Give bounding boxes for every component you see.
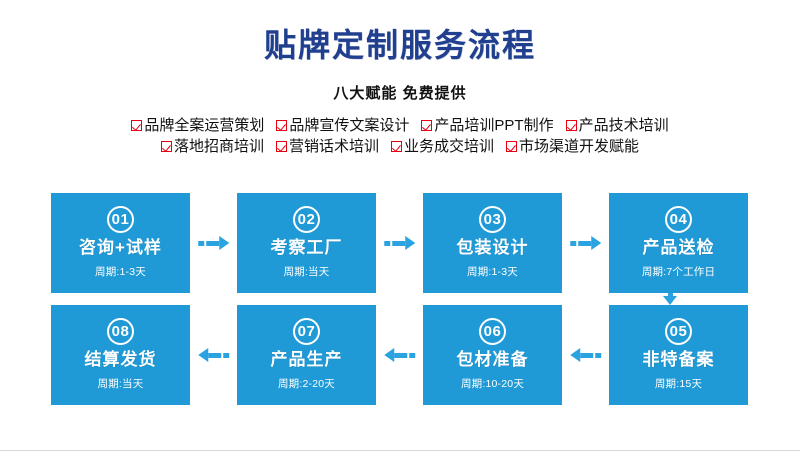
step-card-06[interactable]: 06 包材准备 周期:10-20天 bbox=[423, 305, 562, 405]
step-number-badge: 04 bbox=[665, 206, 692, 233]
page-subtitle: 八大赋能 免费提供 bbox=[0, 64, 800, 103]
feature-item: 落地招商培训 bbox=[161, 139, 264, 154]
step-period: 周期:当天 bbox=[51, 376, 190, 391]
step-number-badge: 05 bbox=[665, 318, 692, 345]
step-number-badge: 07 bbox=[293, 318, 320, 345]
checked-checkbox-icon bbox=[276, 141, 287, 152]
step-number-badge: 06 bbox=[479, 318, 506, 345]
step-title: 考察工厂 bbox=[237, 238, 376, 258]
feature-label: 业务成交培训 bbox=[404, 139, 494, 154]
step-title: 结算发货 bbox=[51, 350, 190, 370]
step-number-badge: 03 bbox=[479, 206, 506, 233]
step-card-01[interactable]: 01 咨询+试样 周期:1-3天 bbox=[51, 193, 190, 293]
checked-checkbox-icon bbox=[161, 141, 172, 152]
feature-item: 市场渠道开发赋能 bbox=[506, 139, 639, 154]
arrow-right-icon bbox=[198, 237, 230, 249]
checked-checkbox-icon bbox=[421, 120, 432, 131]
step-period: 周期:2-20天 bbox=[237, 376, 376, 391]
step-period: 周期:15天 bbox=[609, 376, 748, 391]
page-title: 贴牌定制服务流程 bbox=[0, 0, 800, 64]
step-title: 产品生产 bbox=[237, 350, 376, 370]
connector-06-to-07 bbox=[376, 305, 423, 405]
step-title: 咨询+试样 bbox=[51, 238, 190, 258]
step-period: 周期:7个工作日 bbox=[609, 264, 748, 279]
feature-item: 产品培训PPT制作 bbox=[421, 118, 553, 133]
step-card-02[interactable]: 02 考察工厂 周期:当天 bbox=[237, 193, 376, 293]
feature-label: 品牌宣传文案设计 bbox=[289, 118, 409, 133]
feature-checklist: 品牌全案运营策划 品牌宣传文案设计 产品培训PPT制作 产品技术培训 落地招商培… bbox=[0, 118, 800, 154]
feature-label: 市场渠道开发赋能 bbox=[519, 139, 639, 154]
feature-label: 产品培训PPT制作 bbox=[434, 118, 553, 133]
step-card-04[interactable]: 04 产品送检 周期:7个工作日 bbox=[609, 193, 748, 293]
connector-02-to-03 bbox=[376, 193, 423, 293]
feature-item: 产品技术培训 bbox=[566, 118, 669, 133]
step-title: 包装设计 bbox=[423, 238, 562, 258]
process-flow-diagram: 01 咨询+试样 周期:1-3天 02 考察工厂 周期:当天 03 包装设计 周… bbox=[51, 193, 749, 405]
feature-row-1: 品牌全案运营策划 品牌宣传文案设计 产品培训PPT制作 产品技术培训 bbox=[0, 118, 800, 133]
arrow-left-icon bbox=[570, 349, 602, 361]
connector-05-to-06 bbox=[562, 305, 609, 405]
step-number-badge: 02 bbox=[293, 206, 320, 233]
checked-checkbox-icon bbox=[276, 120, 287, 131]
step-title: 包材准备 bbox=[423, 350, 562, 370]
checked-checkbox-icon bbox=[131, 120, 142, 131]
checked-checkbox-icon bbox=[566, 120, 577, 131]
step-title: 产品送检 bbox=[609, 238, 748, 258]
connector-03-to-04 bbox=[562, 193, 609, 293]
step-period: 周期:1-3天 bbox=[51, 264, 190, 279]
feature-label: 落地招商培训 bbox=[174, 139, 264, 154]
arrow-left-icon bbox=[198, 349, 230, 361]
arrow-left-icon bbox=[384, 349, 416, 361]
feature-label: 产品技术培训 bbox=[579, 118, 669, 133]
checked-checkbox-icon bbox=[506, 141, 517, 152]
step-card-08[interactable]: 08 结算发货 周期:当天 bbox=[51, 305, 190, 405]
connector-01-to-02 bbox=[190, 193, 237, 293]
step-title: 非特备案 bbox=[609, 350, 748, 370]
step-card-07[interactable]: 07 产品生产 周期:2-20天 bbox=[237, 305, 376, 405]
step-period: 周期:10-20天 bbox=[423, 376, 562, 391]
page-root: { "header": { "title": "贴牌定制服务流程", "subt… bbox=[0, 0, 800, 451]
feature-item: 业务成交培训 bbox=[391, 139, 494, 154]
feature-item: 品牌全案运营策划 bbox=[131, 118, 264, 133]
arrow-right-icon bbox=[384, 237, 416, 249]
flow-row-bottom: 08 结算发货 周期:当天 07 产品生产 周期:2-20天 06 包材准备 周… bbox=[51, 305, 749, 405]
arrow-right-icon bbox=[570, 237, 602, 249]
step-number-badge: 08 bbox=[107, 318, 134, 345]
checked-checkbox-icon bbox=[391, 141, 402, 152]
step-period: 周期:1-3天 bbox=[423, 264, 562, 279]
connector-04-to-05 bbox=[659, 293, 681, 305]
feature-row-2: 落地招商培训 营销话术培训 业务成交培训 市场渠道开发赋能 bbox=[0, 139, 800, 154]
step-period: 周期:当天 bbox=[237, 264, 376, 279]
feature-label: 品牌全案运营策划 bbox=[144, 118, 264, 133]
connector-07-to-08 bbox=[190, 305, 237, 405]
step-card-05[interactable]: 05 非特备案 周期:15天 bbox=[609, 305, 748, 405]
step-card-03[interactable]: 03 包装设计 周期:1-3天 bbox=[423, 193, 562, 293]
feature-item: 品牌宣传文案设计 bbox=[276, 118, 409, 133]
feature-item: 营销话术培训 bbox=[276, 139, 379, 154]
feature-label: 营销话术培训 bbox=[289, 139, 379, 154]
flow-row-top: 01 咨询+试样 周期:1-3天 02 考察工厂 周期:当天 03 包装设计 周… bbox=[51, 193, 749, 293]
step-number-badge: 01 bbox=[107, 206, 134, 233]
